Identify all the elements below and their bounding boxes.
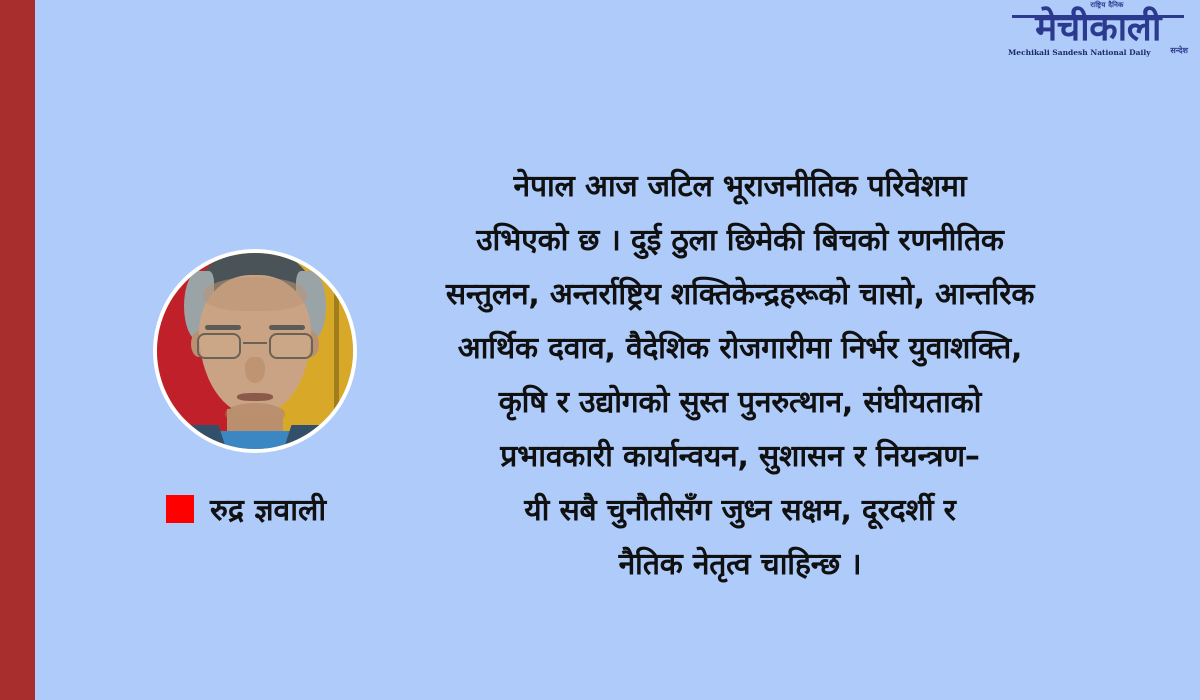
masthead-logo: राष्ट्रिय दैनिक मेचीकाली Mechikali Sande… <box>1008 2 1188 64</box>
portrait-jacket-left <box>153 425 231 453</box>
portrait-forehead <box>203 277 307 311</box>
quote-card: राष्ट्रिय दैनिक मेचीकाली Mechikali Sande… <box>0 0 1200 700</box>
byline: रुद्र ज्ञवाली <box>166 488 326 529</box>
masthead-tagline-row: Mechikali Sandesh National Daily सन्देश <box>1008 49 1188 61</box>
portrait-jacket-right <box>279 425 357 453</box>
quote-line: यी सबै चुनौतीसँग जुध्न सक्षम, दूरदर्शी र <box>370 484 1110 538</box>
portrait-shirt <box>216 431 294 453</box>
quote-line: आर्थिक दवाव, वैदेशिक रोजगारीमा निर्भर यु… <box>370 322 1110 376</box>
quote-line: उभिएको छ । दुई ठुला छिमेकी बिचको रणनीतिक <box>370 214 1110 268</box>
portrait-nose <box>245 357 265 383</box>
masthead-sublabel: सन्देश <box>1170 47 1188 55</box>
portrait-mouth <box>237 393 273 401</box>
quote-line: नेपाल आज जटिल भूराजनीतिक परिवेशमा <box>370 160 1110 214</box>
byline-bullet-icon <box>166 495 194 523</box>
portrait-lens-right <box>269 333 313 359</box>
author-name: रुद्र ज्ञवाली <box>210 488 326 529</box>
quote-text: नेपाल आज जटिल भूराजनीतिक परिवेशमा उभिएको… <box>370 160 1110 592</box>
quote-line: नैतिक नेतृत्व चाहिन्छ । <box>370 538 1110 592</box>
portrait-eyebrow-left <box>205 325 241 330</box>
portrait-glasses <box>195 333 315 359</box>
quote-line: प्रभावकारी कार्यान्वयन, सुशासन र नियन्त्… <box>370 430 1110 484</box>
left-red-accent-bar <box>0 0 35 700</box>
author-portrait <box>153 249 357 453</box>
portrait-lens-left <box>197 333 241 359</box>
portrait-eyebrow-right <box>269 325 305 330</box>
quote-line: सन्तुलन, अन्तर्राष्ट्रिय शक्तिकेन्द्रहरू… <box>370 268 1110 322</box>
masthead-tagline: Mechikali Sandesh National Daily <box>1008 49 1151 57</box>
portrait-glasses-bridge <box>243 342 267 344</box>
quote-line: कृषि र उद्योगको सुस्त पुनरुत्थान, संघीयत… <box>370 376 1110 430</box>
masthead-wordmark: मेचीकाली <box>1008 8 1188 48</box>
portrait-backdrop-stripe <box>334 253 339 449</box>
